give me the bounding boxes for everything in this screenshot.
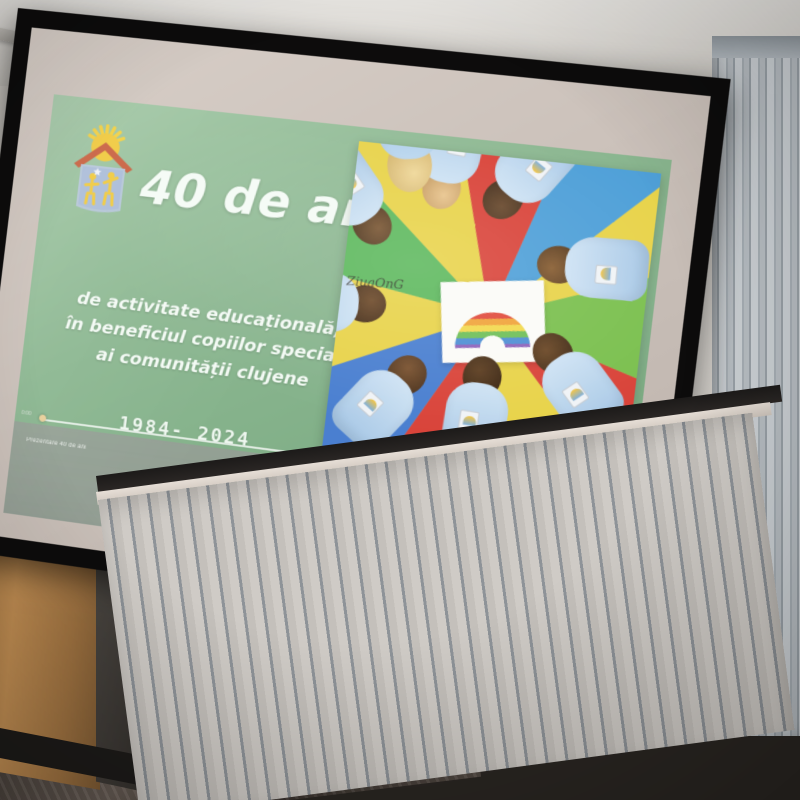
organization-logo-icon [64, 119, 144, 222]
school-badge-icon [594, 265, 617, 286]
elapsed-time-label: 0:00 [21, 410, 31, 417]
room-scene: 40 de ani de activitate educațională, în… [0, 0, 800, 800]
drawing-paper [440, 280, 545, 363]
school-badge-icon [356, 390, 384, 418]
school-badge-icon [561, 381, 590, 409]
child-shirt [563, 235, 651, 302]
rainbow-drawing [454, 312, 530, 348]
media-title: Prezentare 40 de ani [26, 437, 87, 451]
